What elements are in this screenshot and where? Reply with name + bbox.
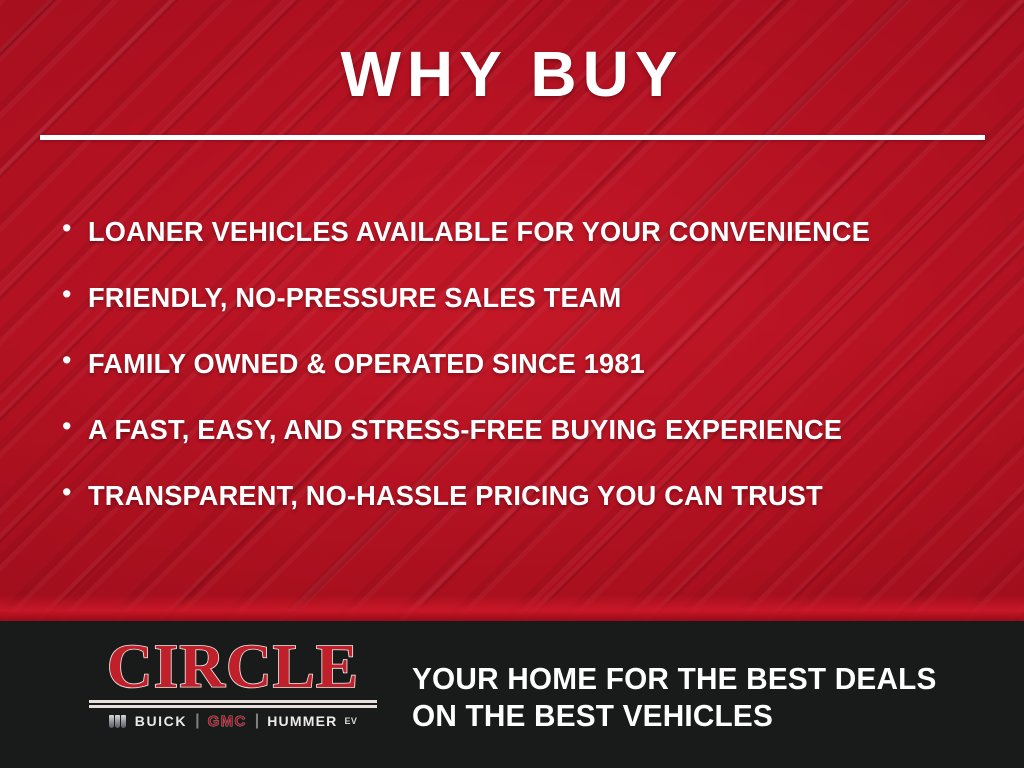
- dealer-logo[interactable]: CIRCLE BUICK | GMC | HUMMER EV: [88, 636, 378, 730]
- bullet-dot-icon: •: [62, 413, 88, 440]
- dealer-logo-wordmark: CIRCLE: [85, 636, 381, 699]
- bullet-dot-icon: •: [62, 215, 88, 242]
- buick-tri-shield-icon: [109, 715, 126, 728]
- bullet-dot-icon: •: [62, 281, 88, 308]
- hero-bottom-glow: [0, 595, 1024, 621]
- bullet-dot-icon: •: [62, 347, 88, 374]
- footer-bar: CIRCLE BUICK | GMC | HUMMER EV YOUR HOME…: [0, 621, 1024, 768]
- footer-tagline: YOUR HOME FOR THE BEST DEALS ON THE BEST…: [412, 661, 978, 734]
- list-item-label: A FAST, EASY, AND STRESS-FREE BUYING EXP…: [88, 416, 965, 444]
- footer-tagline-line-2: ON THE BEST VEHICLES: [412, 698, 978, 735]
- dealer-logo-divider: [89, 700, 377, 708]
- list-item: • FAMILY OWNED & OPERATED SINCE 1981: [62, 350, 992, 416]
- list-item: • FRIENDLY, NO-PRESSURE SALES TEAM: [62, 284, 992, 350]
- list-item-label: FRIENDLY, NO-PRESSURE SALES TEAM: [88, 284, 965, 312]
- list-item-label: TRANSPARENT, NO-HASSLE PRICING YOU CAN T…: [88, 482, 965, 510]
- list-item: • A FAST, EASY, AND STRESS-FREE BUYING E…: [62, 416, 992, 482]
- brand-buick-label: BUICK: [135, 713, 187, 729]
- benefits-list: • LOANER VEHICLES AVAILABLE FOR YOUR CON…: [62, 218, 992, 548]
- why-buy-slide: WHY BUY • LOANER VEHICLES AVAILABLE FOR …: [0, 0, 1024, 768]
- page-title: WHY BUY: [0, 42, 1024, 106]
- list-item-label: LOANER VEHICLES AVAILABLE FOR YOUR CONVE…: [88, 218, 965, 246]
- brand-gmc-label: GMC: [208, 713, 247, 730]
- list-item: • LOANER VEHICLES AVAILABLE FOR YOUR CON…: [62, 218, 992, 284]
- brand-separator-1: |: [195, 712, 199, 730]
- list-item-label: FAMILY OWNED & OPERATED SINCE 1981: [88, 350, 965, 378]
- bullet-dot-icon: •: [62, 479, 88, 506]
- title-divider: [40, 135, 985, 140]
- brand-hummer-ev-suffix: EV: [344, 716, 357, 726]
- footer-tagline-line-1: YOUR HOME FOR THE BEST DEALS: [412, 661, 937, 696]
- brand-strip: BUICK | GMC | HUMMER EV: [88, 712, 378, 730]
- brand-hummer-label: HUMMER: [267, 713, 337, 729]
- list-item: • TRANSPARENT, NO-HASSLE PRICING YOU CAN…: [62, 482, 992, 548]
- brand-separator-2: |: [255, 712, 259, 730]
